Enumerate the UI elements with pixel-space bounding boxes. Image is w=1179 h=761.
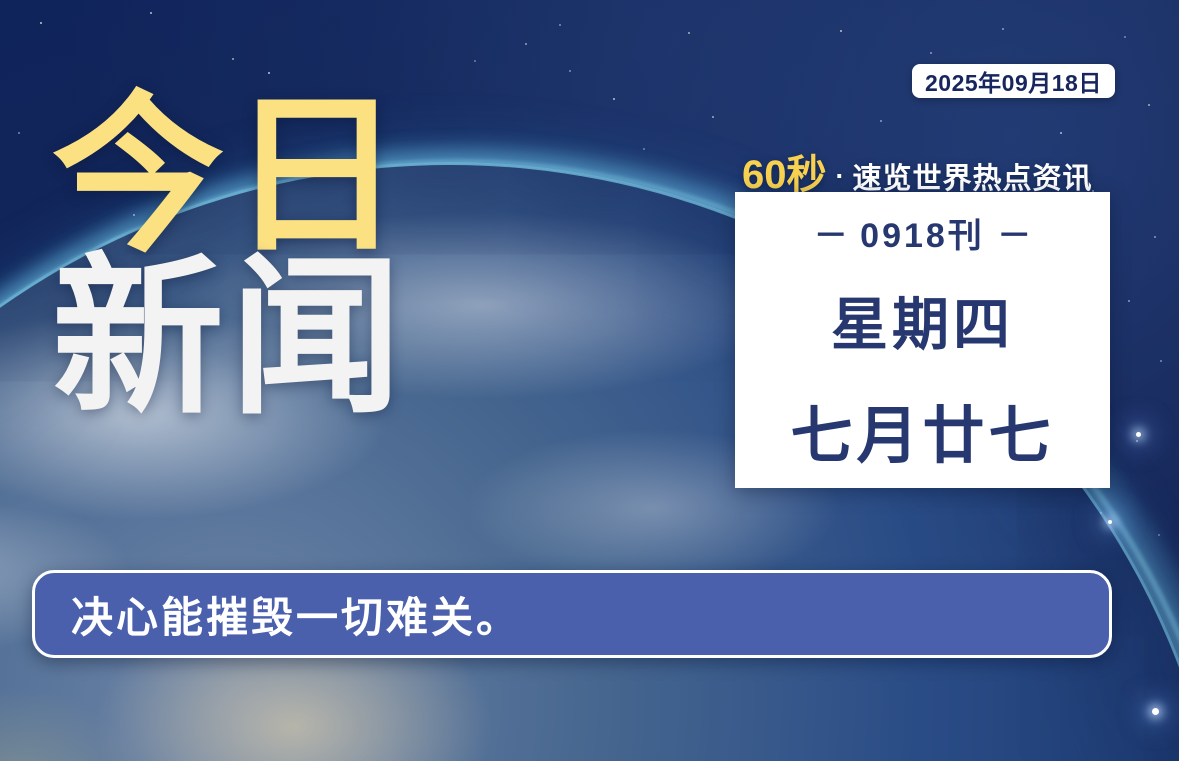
tagline-separator-dot: ·	[836, 161, 845, 192]
poster-title-line-2: 新闻	[52, 258, 472, 420]
lunar-date-label: 七月廿七	[790, 385, 1054, 475]
news-poster: 今日 新闻 2025年09月18日 60秒 · 速览世界热点资讯 － 0918刊…	[0, 0, 1179, 761]
issue-dash-left: －	[814, 217, 848, 255]
issue-number-row: － 0918刊 －	[814, 208, 1032, 257]
issue-info-card: － 0918刊 － 星期四 七月廿七	[735, 192, 1110, 488]
tagline-text: 速览世界热点资讯	[853, 155, 1093, 197]
date-badge: 2025年09月18日	[912, 64, 1115, 98]
issue-number: 0918刊	[860, 217, 985, 255]
bright-star-icon	[1108, 520, 1112, 524]
date-badge-label: 2025年09月18日	[925, 64, 1102, 98]
quote-bar: 决心能摧毁一切难关。	[32, 570, 1112, 658]
poster-title: 今日 新闻	[52, 96, 472, 419]
issue-dash-right: －	[997, 217, 1031, 255]
bright-star-icon	[1152, 708, 1159, 715]
weekday-label: 星期四	[831, 279, 1014, 361]
bright-star-icon	[1136, 432, 1141, 437]
quote-text: 决心能摧毁一切难关。	[71, 584, 521, 645]
poster-title-line-1: 今日	[52, 96, 472, 258]
